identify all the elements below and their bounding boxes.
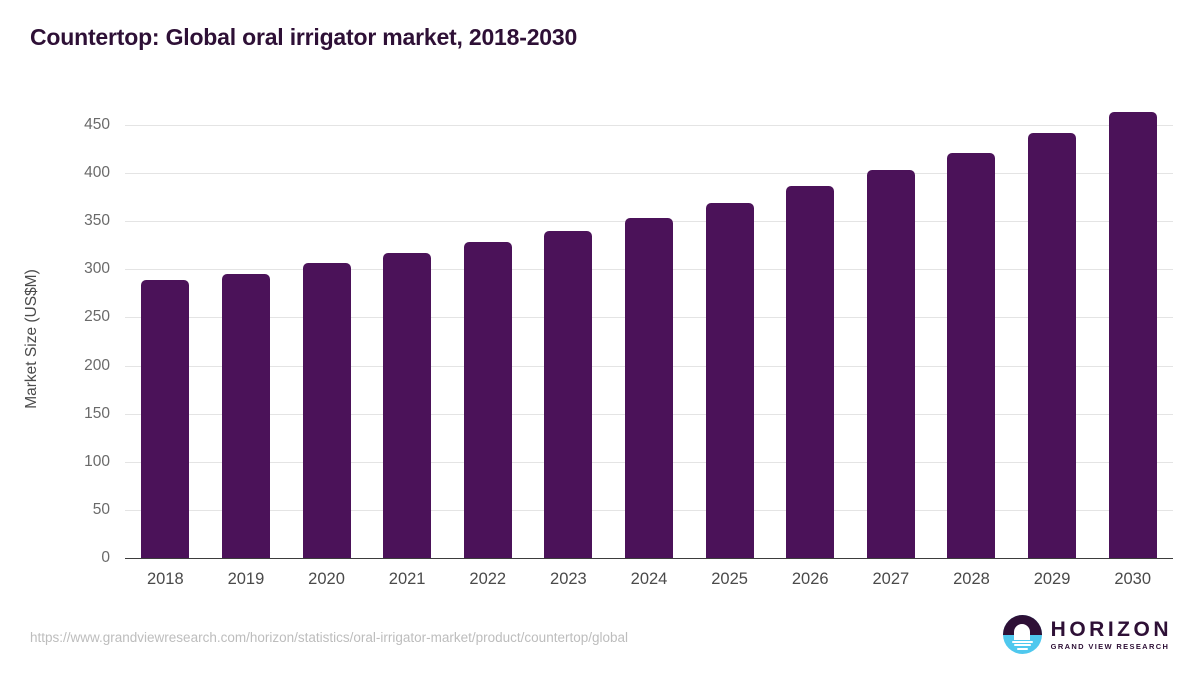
x-tick-label-2019: 2019	[206, 570, 286, 589]
x-tick-label-2020: 2020	[287, 570, 367, 589]
bar-2027[interactable]	[867, 170, 915, 558]
bar-2025[interactable]	[706, 203, 754, 558]
y-tick-label: 0	[52, 549, 110, 567]
y-tick-label: 100	[52, 453, 110, 471]
bar-2019[interactable]	[222, 274, 270, 558]
x-tick-label-2026: 2026	[770, 570, 850, 589]
x-tick-label-2023: 2023	[528, 570, 608, 589]
x-tick-label-2021: 2021	[367, 570, 447, 589]
horizon-mark-icon	[1003, 615, 1042, 654]
y-tick-label: 450	[52, 116, 110, 134]
y-axis-tick-labels: 050100150200250300350400450	[52, 0, 110, 675]
y-tick-label: 250	[52, 308, 110, 326]
x-tick-label-2018: 2018	[125, 570, 205, 589]
gridline	[125, 125, 1173, 126]
x-tick-label-2022: 2022	[448, 570, 528, 589]
y-tick-label: 400	[52, 164, 110, 182]
gridline	[125, 558, 1173, 559]
source-url[interactable]: https://www.grandviewresearch.com/horizo…	[30, 630, 628, 645]
bar-2022[interactable]	[464, 242, 512, 558]
bar-2020[interactable]	[303, 263, 351, 558]
bar-2021[interactable]	[383, 253, 431, 558]
y-tick-label: 150	[52, 405, 110, 423]
x-tick-label-2027: 2027	[851, 570, 931, 589]
logo-wordmark: HORIZON	[1051, 619, 1172, 640]
logo-text-block: HORIZON GRAND VIEW RESEARCH	[1051, 619, 1172, 651]
logo-tagline: GRAND VIEW RESEARCH	[1051, 643, 1172, 651]
bar-2023[interactable]	[544, 231, 592, 558]
x-tick-label-2025: 2025	[690, 570, 770, 589]
chart-page: Countertop: Global oral irrigator market…	[0, 0, 1200, 675]
bar-2018[interactable]	[141, 280, 189, 558]
gridline	[125, 173, 1173, 174]
y-axis-title: Market Size (US$M)	[23, 239, 41, 439]
x-tick-label-2024: 2024	[609, 570, 689, 589]
bar-2026[interactable]	[786, 186, 834, 558]
chart-plot-area: Market Size (US$M) 050100150200250300350…	[0, 0, 1200, 675]
horizon-logo: HORIZON GRAND VIEW RESEARCH	[1003, 615, 1172, 654]
bar-2024[interactable]	[625, 218, 673, 558]
bar-2029[interactable]	[1028, 133, 1076, 558]
bar-2030[interactable]	[1109, 112, 1157, 558]
x-tick-label-2030: 2030	[1093, 570, 1173, 589]
x-tick-label-2028: 2028	[931, 570, 1011, 589]
y-tick-label: 50	[52, 501, 110, 519]
y-tick-label: 350	[52, 212, 110, 230]
y-tick-label: 300	[52, 260, 110, 278]
x-tick-label-2029: 2029	[1012, 570, 1092, 589]
y-tick-label: 200	[52, 357, 110, 375]
bar-2028[interactable]	[947, 153, 995, 558]
